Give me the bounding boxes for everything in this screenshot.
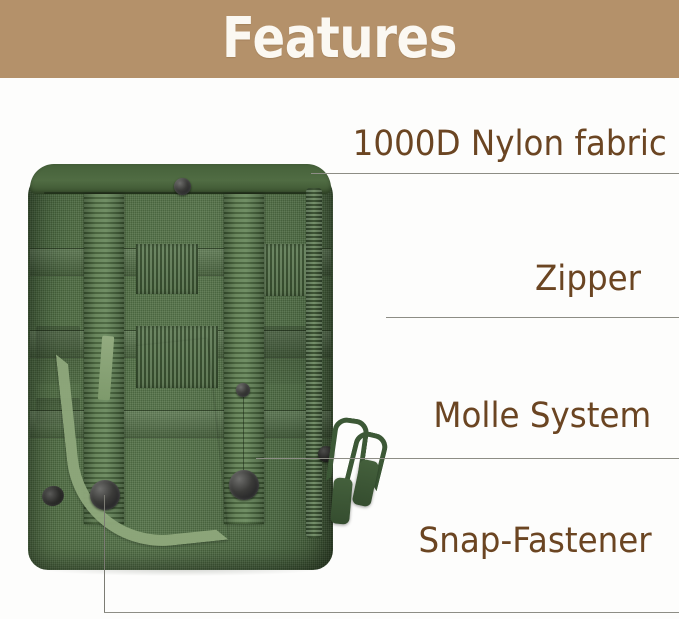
snap-fastener-right — [229, 470, 259, 500]
webbing-patch — [136, 244, 198, 294]
page-title: Features — [48, 0, 632, 78]
feature-label-molle-system: Molle System — [433, 399, 651, 434]
callout-line-snap-fastener — [104, 612, 679, 613]
infographic-page: Features 1000D Nylon fabric — [0, 0, 679, 619]
callout-line-zipper — [386, 317, 679, 318]
snap-fastener-left — [90, 480, 120, 510]
feature-label-snap-fastener: Snap-Fastener — [419, 524, 652, 559]
zipper-pull-tab — [330, 477, 353, 524]
callout-stem-snap-fastener — [104, 495, 105, 613]
feature-label-nylon: 1000D Nylon fabric — [353, 127, 667, 162]
snap-fastener-middle — [236, 383, 250, 397]
fabric-panel — [262, 326, 306, 384]
stitch-line — [243, 397, 244, 471]
callout-line-molle-system — [256, 458, 679, 459]
callout-line-nylon — [311, 173, 679, 174]
product-image-molle-pouch — [14, 148, 354, 578]
snap-fastener-top — [174, 178, 191, 195]
feature-label-zipper: Zipper — [535, 262, 641, 297]
zipper-track — [306, 188, 322, 538]
